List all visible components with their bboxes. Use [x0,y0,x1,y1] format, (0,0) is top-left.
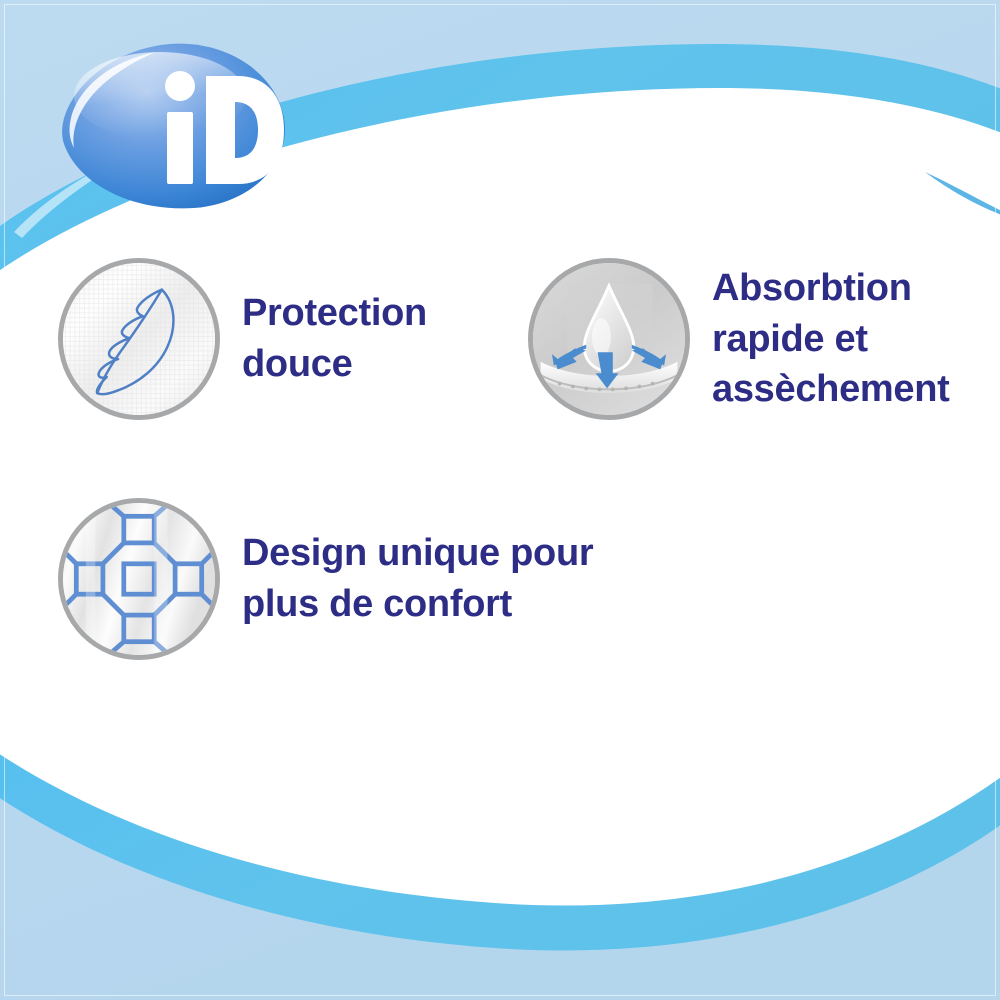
droplet-absorption-arrows-icon [528,258,690,420]
feature-item-protection-douce: Protection douce [58,258,498,420]
feature-label: Absorbtion rapide et assèchement [712,263,950,415]
feather-icon [58,258,220,420]
product-feature-poster: Protection douce [0,0,1000,1000]
id-brand-logo [52,38,292,213]
feature-label: Protection douce [242,288,427,389]
feature-item-design-unique: Design unique pour plus de confort [58,498,618,660]
feature-label: Design unique pour plus de confort [242,528,593,629]
feature-item-absorbtion-rapide: Absorbtion rapide et assèchement [528,258,990,420]
octagon-lattice-quilt-icon [58,498,220,660]
